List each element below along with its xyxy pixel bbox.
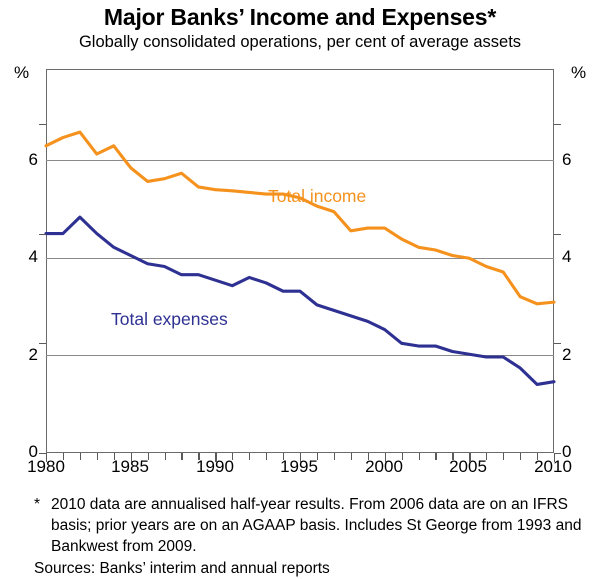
- x-axis-minor-tick: [198, 453, 199, 460]
- x-axis-minor-tick: [215, 453, 216, 462]
- x-axis-minor-tick: [249, 453, 250, 460]
- x-axis-minor-tick: [452, 453, 453, 460]
- y-tick-label-right-4: 4: [562, 247, 592, 267]
- x-axis-minor-tick: [469, 453, 470, 462]
- series-label-income: Total income: [268, 186, 366, 207]
- x-axis-minor-tick: [368, 453, 369, 460]
- x-axis-minor-tick: [300, 453, 301, 462]
- x-tick-label-2005: 2005: [438, 457, 498, 477]
- x-tick-label-1995: 1995: [269, 457, 329, 477]
- footnote-marker: *: [34, 494, 51, 515]
- x-axis-minor-tick: [435, 453, 436, 460]
- y-axis-tick-right: [554, 343, 561, 344]
- x-axis-minor-tick: [385, 453, 386, 462]
- y-axis-tick-right: [554, 124, 561, 125]
- x-axis-minor-tick: [114, 453, 115, 460]
- series-line-expenses: [46, 217, 554, 384]
- series-canvas: [46, 69, 554, 453]
- footnotes: * 2010 data are annualised half-year res…: [34, 494, 582, 579]
- y-tick-label-right-6: 6: [562, 150, 592, 170]
- x-axis-minor-tick: [351, 453, 352, 460]
- x-axis-minor-tick: [131, 453, 132, 462]
- x-axis-minor-tick: [520, 453, 521, 460]
- y-axis-tick-left: [39, 234, 46, 235]
- x-axis-minor-tick: [232, 453, 233, 460]
- plot-area: Total income Total expenses: [46, 69, 554, 453]
- x-axis-minor-tick: [181, 453, 182, 460]
- x-axis-minor-tick: [63, 453, 64, 460]
- x-axis-minor-tick: [503, 453, 504, 460]
- x-axis-minor-tick: [486, 453, 487, 460]
- chart-figure: Major Banks’ Income and Expenses* Global…: [0, 0, 600, 566]
- y-tick-label-left-6: 6: [8, 150, 38, 170]
- y-axis-tick-left: [39, 124, 46, 125]
- y-axis-tick-right: [554, 453, 561, 454]
- x-axis-minor-tick: [266, 453, 267, 460]
- y-axis-unit-left: %: [14, 63, 29, 83]
- x-axis-minor-tick: [537, 453, 538, 460]
- series-label-expenses: Total expenses: [111, 309, 228, 330]
- y-axis-unit-right: %: [571, 63, 586, 83]
- x-axis-minor-tick: [80, 453, 81, 460]
- footnote-row: * 2010 data are annualised half-year res…: [34, 494, 582, 557]
- x-axis-minor-tick: [165, 453, 166, 460]
- x-tick-label-2010: 2010: [523, 457, 583, 477]
- y-tick-label-right-2: 2: [562, 345, 592, 365]
- x-axis-minor-tick: [419, 453, 420, 460]
- sources-text: Sources: Banks’ interim and annual repor…: [34, 558, 582, 579]
- x-axis-minor-tick: [334, 453, 335, 460]
- x-axis-minor-tick: [97, 453, 98, 460]
- x-axis-minor-tick: [402, 453, 403, 460]
- y-axis-tick-left: [39, 343, 46, 344]
- page-title: Major Banks’ Income and Expenses*: [0, 4, 600, 31]
- y-tick-label-left-4: 4: [8, 247, 38, 267]
- x-axis-minor-tick: [46, 453, 47, 462]
- series-line-income: [46, 132, 554, 304]
- x-axis-minor-tick: [317, 453, 318, 460]
- y-tick-label-left-2: 2: [8, 345, 38, 365]
- x-axis-minor-tick: [148, 453, 149, 460]
- y-axis-tick-right: [554, 234, 561, 235]
- x-axis-minor-tick: [554, 453, 555, 462]
- y-axis-tick-left: [39, 453, 46, 454]
- x-axis-minor-tick: [283, 453, 284, 460]
- chart-subtitle: Globally consolidated operations, per ce…: [0, 33, 600, 52]
- footnote-text: 2010 data are annualised half-year resul…: [51, 494, 582, 557]
